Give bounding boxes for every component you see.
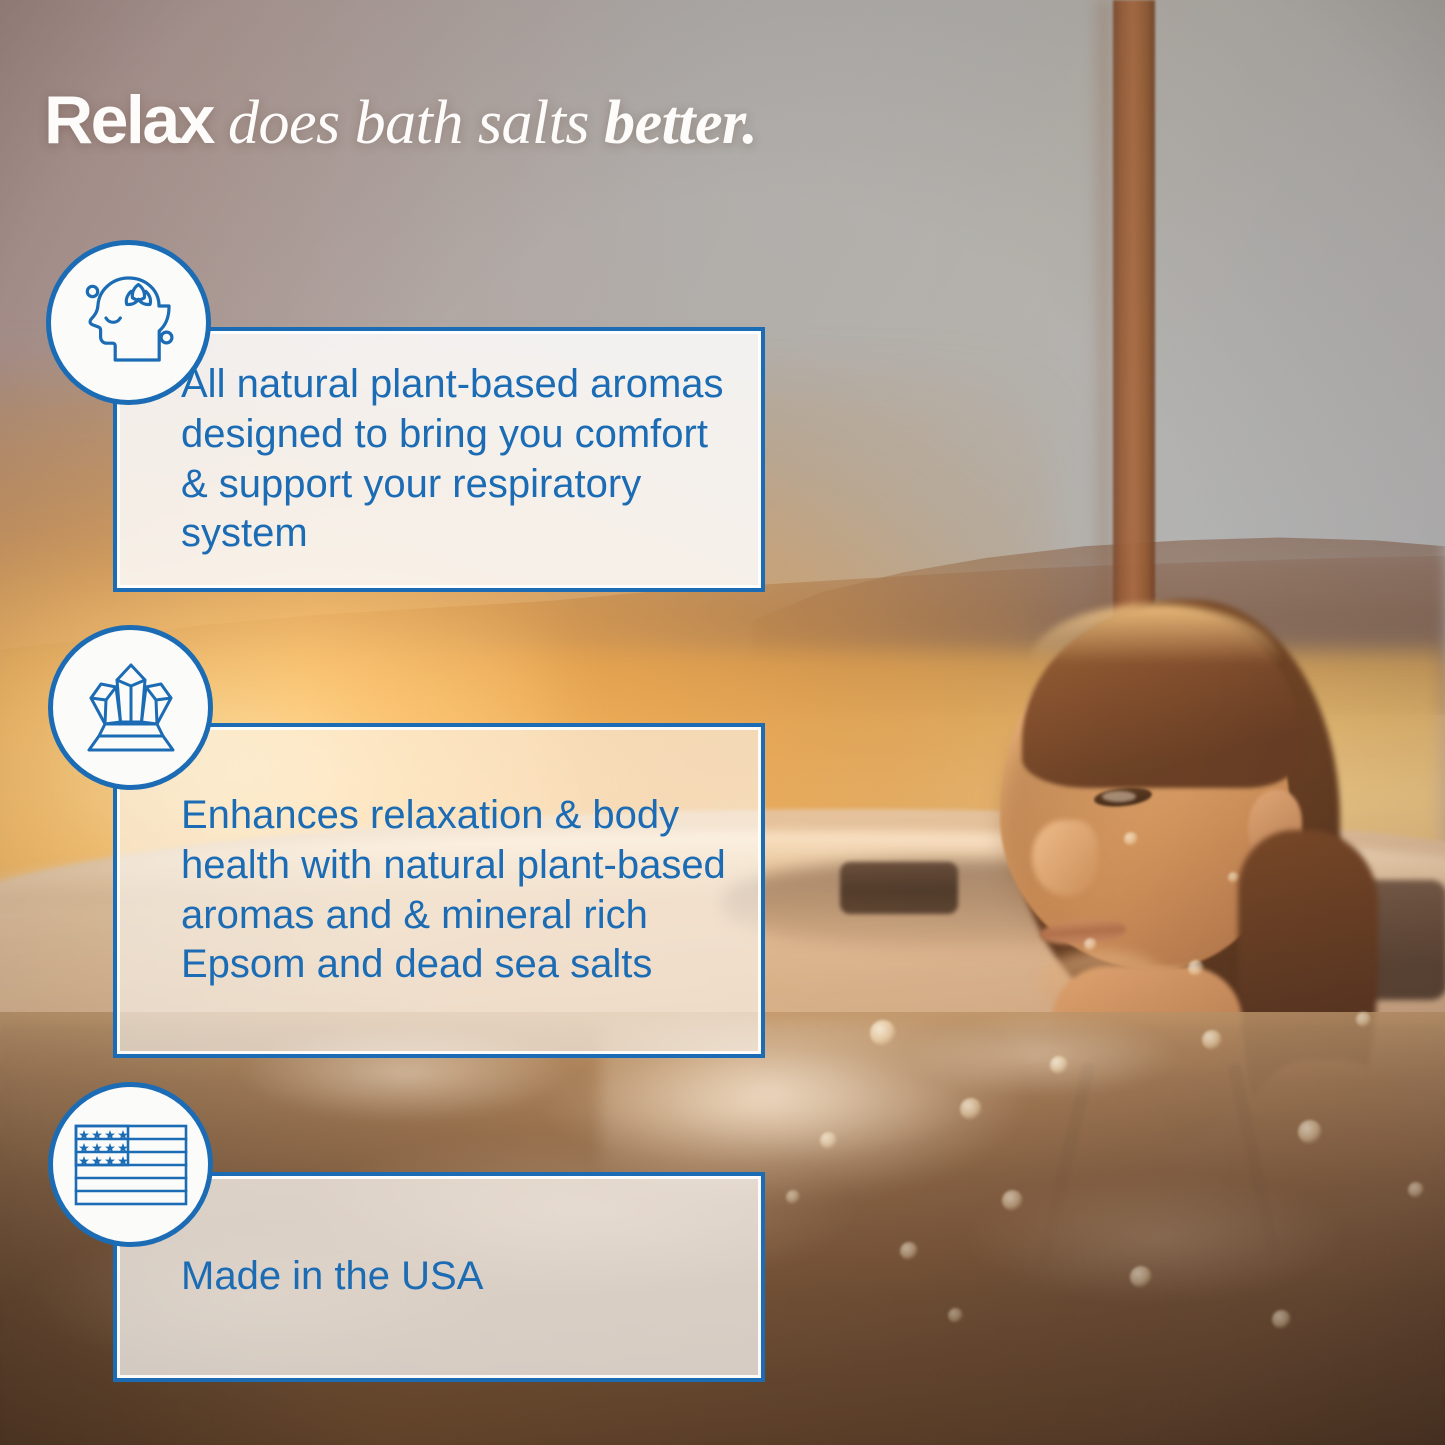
feature-text-box-3: Made in the USA: [113, 1172, 765, 1382]
usa-flag-icon: [48, 1082, 213, 1247]
promo-image: Relax does bath salts better. All natura…: [0, 0, 1445, 1445]
brand-name: Relax: [44, 82, 213, 158]
feature-text-3: Made in the USA: [117, 1252, 509, 1302]
page-title: Relax does bath salts better.: [44, 86, 757, 154]
feature-text-box-2: Enhances relaxation & body health with n…: [113, 723, 765, 1058]
feature-text-box-1: All natural plant-based aromas designed …: [113, 327, 765, 592]
mineral-salt-crystals-icon: [48, 625, 213, 790]
feature-text-2: Enhances relaxation & body health with n…: [117, 791, 761, 989]
headline-middle: does bath salts: [213, 89, 604, 157]
feature-text-1: All natural plant-based aromas designed …: [117, 360, 761, 558]
headline-emphasis: better.: [604, 89, 757, 157]
relaxed-mind-lotus-head-icon: [46, 240, 211, 405]
